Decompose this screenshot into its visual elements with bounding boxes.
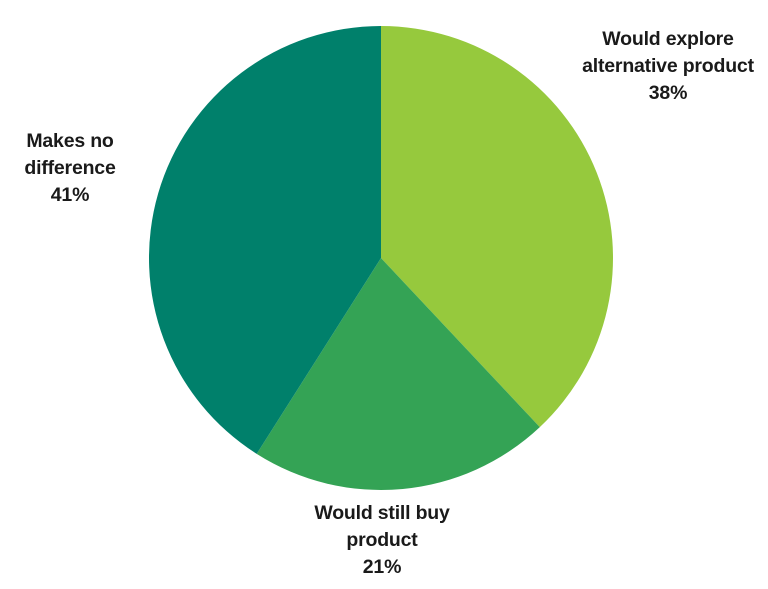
pie-label-line-2: difference	[2, 155, 138, 182]
pie-label-makes-no-difference: Makes no difference 41%	[2, 128, 138, 209]
pie-label-would-explore-alternative-product: Would explore alternative product 38%	[568, 26, 768, 107]
pie-label-line-1: Would still buy	[282, 500, 482, 527]
pie-label-value: 21%	[282, 554, 482, 581]
pie-label-value: 41%	[2, 182, 138, 209]
pie-label-line-1: Would explore	[568, 26, 768, 53]
pie-label-value: 38%	[568, 80, 768, 107]
pie-label-line-2: alternative product	[568, 53, 768, 80]
pie-chart: Would explore alternative product 38% Ma…	[0, 0, 768, 589]
pie-label-would-still-buy-product: Would still buy product 21%	[282, 500, 482, 581]
pie-label-line-1: Makes no	[2, 128, 138, 155]
pie-label-line-2: product	[282, 527, 482, 554]
